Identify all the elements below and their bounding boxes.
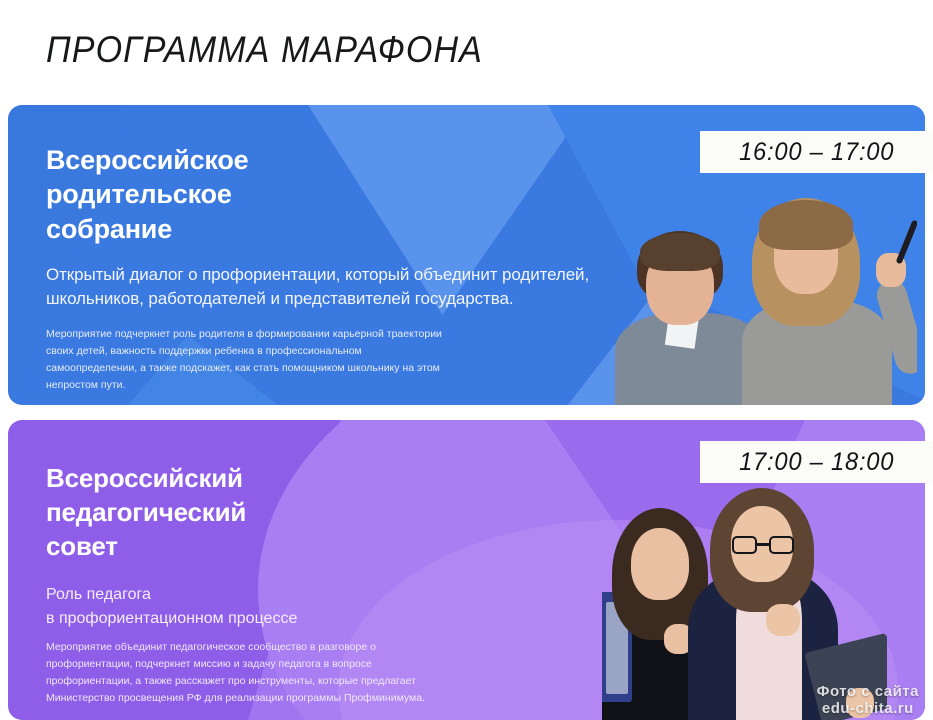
event-heading: Всероссийский педагогический совет	[46, 462, 608, 563]
event-subtitle-line: Роль педагога	[46, 586, 151, 603]
event-card-body: Всероссийское родительское собрание Откр…	[8, 105, 608, 394]
event-subtitle-line: в профориентационном процессе	[46, 610, 297, 627]
person-hair-top	[759, 200, 853, 250]
glasses-lens-left	[732, 536, 757, 554]
page-title: ПРОГРАММА МАРАФОНА	[46, 29, 483, 71]
event-heading-line: педагогический	[46, 497, 246, 527]
event-time-text: 16:00 – 17:00	[739, 138, 894, 167]
event-heading: Всероссийское родительское собрание	[46, 143, 608, 246]
photo-source-watermark: Фото с сайта edu-chita.ru	[817, 683, 919, 718]
event-lead-text: Открытый диалог о профориентации, которы…	[46, 263, 608, 311]
event-time-badge-2: 17:00 – 18:00	[700, 441, 933, 483]
person-hand	[766, 604, 800, 636]
watermark-line-1: Фото с сайта	[817, 683, 919, 701]
event-card-body: Всероссийский педагогический совет Роль …	[8, 420, 608, 707]
glasses-icon	[732, 536, 794, 554]
event-time-text: 17:00 – 18:00	[739, 448, 894, 477]
event-time-badge-1: 16:00 – 17:00	[700, 131, 933, 173]
watermark-line-2: edu-chita.ru	[817, 700, 919, 718]
event-heading-line: Всероссийское	[46, 145, 248, 175]
event-note-text: Мероприятие подчеркнет роль родителя в ф…	[46, 326, 446, 394]
photo-person-woman	[752, 190, 912, 405]
pen-icon	[896, 220, 917, 265]
event-heading-line: родительское	[46, 179, 232, 209]
glasses-bridge	[757, 543, 769, 546]
event-heading-line: собрание	[46, 214, 172, 244]
event-heading-line: совет	[46, 531, 118, 561]
person-fringe	[640, 233, 720, 271]
page-header: ПРОГРАММА МАРАФОНА	[0, 0, 933, 100]
event-heading-line: Всероссийский	[46, 463, 243, 493]
event-photo-parent-meeting	[587, 190, 917, 405]
person-head	[631, 528, 689, 600]
event-subtitle: Роль педагога в профориентационном проце…	[46, 583, 608, 629]
glasses-lens-right	[769, 536, 794, 554]
event-note-text: Мероприятие объединит педагогическое соо…	[46, 639, 436, 707]
